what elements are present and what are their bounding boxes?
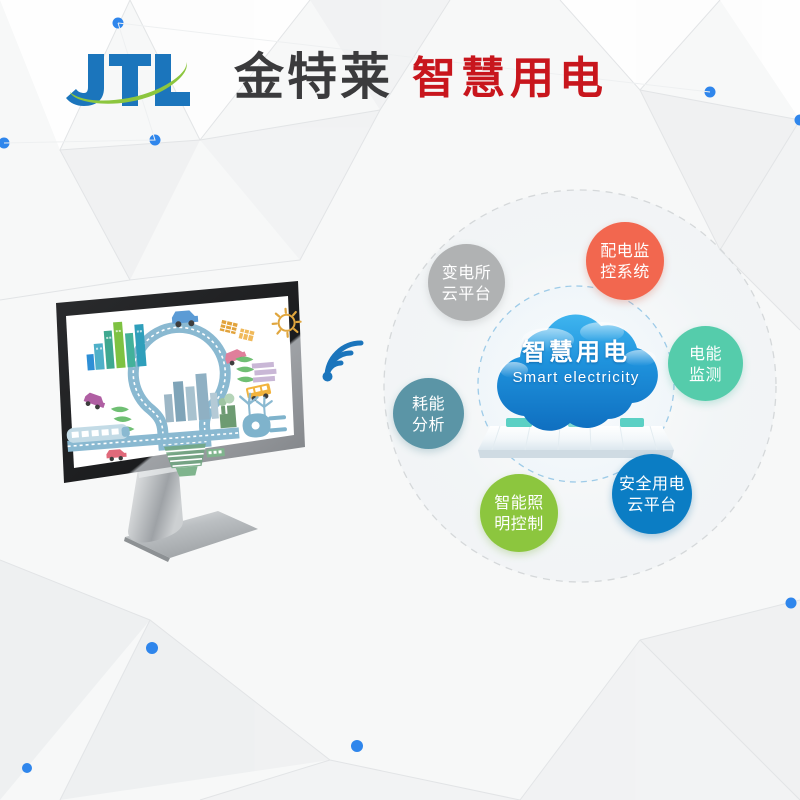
node-haoneng-fenxi[interactable]: 耗能 分析 [393,378,464,449]
poster-canvas: 金特莱 智慧用电 [0,0,800,800]
node-label-line1: 智能照 [494,492,544,513]
node-anquan-yongdian-yunpingtai[interactable]: 安全用电 云平台 [612,454,692,534]
node-label-line2: 监测 [689,364,722,385]
desktop-monitor [50,275,330,565]
node-label-line2: 分析 [412,414,445,435]
node-label-line1: 配电监 [600,240,650,261]
node-label-line1: 变电所 [442,262,492,283]
node-dianneng-jiance[interactable]: 电能 监测 [668,326,743,401]
node-label-line2: 明控制 [494,513,544,534]
node-peidian-jiankong-xitong[interactable]: 配电监 控系统 [586,222,664,300]
node-label-line1: 耗能 [412,393,445,414]
node-biandiansuo-yunpingtai[interactable]: 变电所 云平台 [428,244,505,321]
brand-logo: 金特莱 [62,48,362,110]
cloud-shape-icon [470,298,682,478]
node-label-line2: 控系统 [600,261,650,282]
page-title: 智慧用电 [412,50,608,108]
node-label-line1: 电能 [689,343,722,364]
wifi-signal-icon [318,332,372,386]
header: 金特莱 智慧用电 [0,0,800,150]
node-zhineng-zhaoming-kongzhi[interactable]: 智能照 明控制 [480,474,558,552]
node-label-line1: 安全用电 [619,473,685,494]
central-cloud: 智慧用电 Smart electricity [470,298,682,478]
ecosystem-diagram: 智慧用电 Smart electricity 配电监 控系统 变电所 云平台 电… [368,178,800,602]
node-label-line2: 云平台 [442,283,492,304]
node-label-line2: 云平台 [627,494,677,515]
brand-name-cn: 金特莱 [234,46,393,108]
jtl-logo-icon [62,48,190,110]
